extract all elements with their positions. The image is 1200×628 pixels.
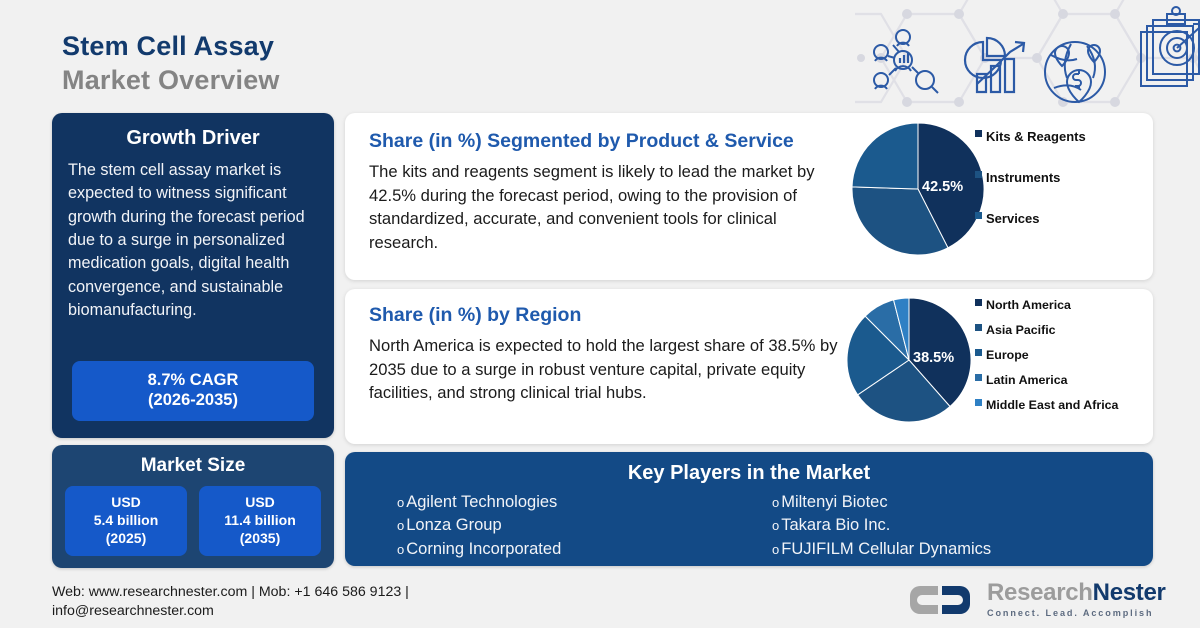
cagr-value: 8.7% CAGR — [72, 370, 314, 391]
logo-word-research: Research — [987, 579, 1093, 606]
key-player-item: oTakara Bio Inc. — [772, 514, 1147, 537]
region-share-body: North America is expected to hold the la… — [369, 334, 839, 405]
footer-contact-line2: info@researchnester.com — [52, 602, 522, 621]
legend-label: Europe — [986, 348, 1029, 362]
key-player-item: oFUJIFILM Cellular Dynamics — [772, 538, 1147, 561]
key-player-item: oAgilent Technologies — [397, 491, 772, 514]
region-share-title: Share (in %) by Region — [369, 304, 581, 327]
currency-label: USD — [201, 494, 319, 512]
market-size-title: Market Size — [52, 455, 334, 477]
logo-mark-icon — [908, 580, 980, 620]
key-players-column-right: oMiltenyi BiotecoTakara Bio Inc.oFUJIFIL… — [772, 491, 1147, 561]
bar-chart-growth-icon — [965, 38, 1024, 92]
growth-driver-title: Growth Driver — [68, 127, 318, 150]
key-player-name: Lonza Group — [406, 514, 501, 537]
segment-pie-chart: 42.5% Kits & ReagentsInstrumentsServices — [850, 121, 1140, 271]
key-players-column-left: oAgilent TechnologiesoLonza GroupoCornin… — [397, 491, 772, 561]
logo-tagline: Connect. Lead. Accomplish — [987, 608, 1166, 618]
growth-driver-body: The stem cell assay market is expected t… — [68, 159, 318, 322]
globe-finance-icon — [1045, 42, 1105, 102]
key-player-item: oLonza Group — [397, 514, 772, 537]
logo-wordmark: ResearchNester — [987, 579, 1166, 607]
bullet-circle-icon: o — [397, 519, 404, 532]
key-player-name: Miltenyi Biotec — [781, 491, 887, 514]
legend-swatch-icon — [975, 130, 982, 137]
key-players-title: Key Players in the Market — [345, 452, 1153, 485]
hexagon-decoration — [855, 0, 1200, 112]
logo-word-nester: Nester — [1093, 579, 1166, 606]
bullet-circle-icon: o — [397, 543, 404, 556]
market-size-card: Market Size USD 5.4 billion (2025) USD 1… — [52, 445, 334, 568]
legend-item: Asia Pacific — [975, 323, 1118, 337]
region-pie-svg — [845, 296, 973, 424]
segment-share-card: Share (in %) Segmented by Product & Serv… — [345, 113, 1153, 280]
market-size-box-2035: USD 11.4 billion (2035) — [199, 486, 321, 556]
key-player-name: Corning Incorporated — [406, 538, 561, 561]
legend-label: Instruments — [986, 170, 1060, 185]
people-network-analytics-icon — [874, 30, 938, 93]
currency-label: USD — [67, 494, 185, 512]
clipboard-target-icon — [1141, 7, 1200, 86]
pie-slice — [852, 123, 918, 189]
legend-swatch-icon — [975, 212, 982, 219]
key-player-name: Takara Bio Inc. — [781, 514, 890, 537]
key-player-name: FUJIFILM Cellular Dynamics — [781, 538, 991, 561]
legend-label: Latin America — [986, 373, 1067, 387]
legend-label: Middle East and Africa — [986, 398, 1118, 412]
region-share-card: Share (in %) by Region North America is … — [345, 289, 1153, 444]
region-pie-legend: North AmericaAsia PacificEuropeLatin Ame… — [975, 298, 1118, 423]
logo-text: ResearchNester Connect. Lead. Accomplish — [987, 579, 1166, 618]
legend-item: Latin America — [975, 373, 1118, 387]
legend-swatch-icon — [975, 324, 982, 331]
legend-item: Instruments — [975, 170, 1086, 185]
key-player-name: Agilent Technologies — [406, 491, 557, 514]
title-primary: Stem Cell Assay — [62, 30, 280, 64]
key-player-item: oMiltenyi Biotec — [772, 491, 1147, 514]
legend-item: Kits & Reagents — [975, 129, 1086, 144]
infographic-page: Stem Cell Assay Market Overview — [0, 0, 1200, 628]
legend-label: North America — [986, 298, 1071, 312]
legend-label: Asia Pacific — [986, 323, 1056, 337]
key-players-columns: oAgilent TechnologiesoLonza GroupoCornin… — [345, 485, 1153, 561]
bullet-circle-icon: o — [772, 543, 779, 556]
legend-swatch-icon — [975, 299, 982, 306]
footer-contact-line1: Web: www.researchnester.com | Mob: +1 64… — [52, 583, 522, 602]
research-nester-logo: ResearchNester Connect. Lead. Accomplish — [908, 578, 1153, 622]
year-label: (2025) — [67, 530, 185, 548]
cagr-period: (2026-2035) — [72, 390, 314, 411]
legend-item: Europe — [975, 348, 1118, 362]
bullet-circle-icon: o — [772, 519, 779, 532]
legend-item: Services — [975, 211, 1086, 226]
legend-swatch-icon — [975, 374, 982, 381]
legend-item: North America — [975, 298, 1118, 312]
market-size-box-2025: USD 5.4 billion (2025) — [65, 486, 187, 556]
growth-driver-card: Growth Driver The stem cell assay market… — [52, 113, 334, 438]
cagr-badge: 8.7% CAGR (2026-2035) — [72, 361, 314, 421]
legend-label: Services — [986, 211, 1040, 226]
market-size-values: USD 5.4 billion (2025) USD 11.4 billion … — [52, 486, 334, 556]
footer-contact: Web: www.researchnester.com | Mob: +1 64… — [52, 583, 522, 621]
amount-label: 5.4 billion — [67, 512, 185, 530]
segment-share-title: Share (in %) Segmented by Product & Serv… — [369, 130, 794, 153]
legend-swatch-icon — [975, 349, 982, 356]
page-title: Stem Cell Assay Market Overview — [62, 30, 280, 98]
legend-label: Kits & Reagents — [986, 129, 1086, 144]
bullet-circle-icon: o — [772, 496, 779, 509]
legend-item: Middle East and Africa — [975, 398, 1118, 412]
segment-share-body: The kits and reagents segment is likely … — [369, 160, 839, 254]
amount-label: 11.4 billion — [201, 512, 319, 530]
segment-pie-svg — [850, 121, 986, 257]
segment-pie-legend: Kits & ReagentsInstrumentsServices — [975, 129, 1086, 252]
legend-swatch-icon — [975, 399, 982, 406]
key-players-card: Key Players in the Market oAgilent Techn… — [345, 452, 1153, 566]
title-secondary: Market Overview — [62, 64, 280, 98]
year-label: (2035) — [201, 530, 319, 548]
legend-swatch-icon — [975, 171, 982, 178]
region-pie-chart: 38.5% North AmericaAsia PacificEuropeLat… — [845, 296, 1145, 438]
key-player-item: oCorning Incorporated — [397, 538, 772, 561]
bullet-circle-icon: o — [397, 496, 404, 509]
